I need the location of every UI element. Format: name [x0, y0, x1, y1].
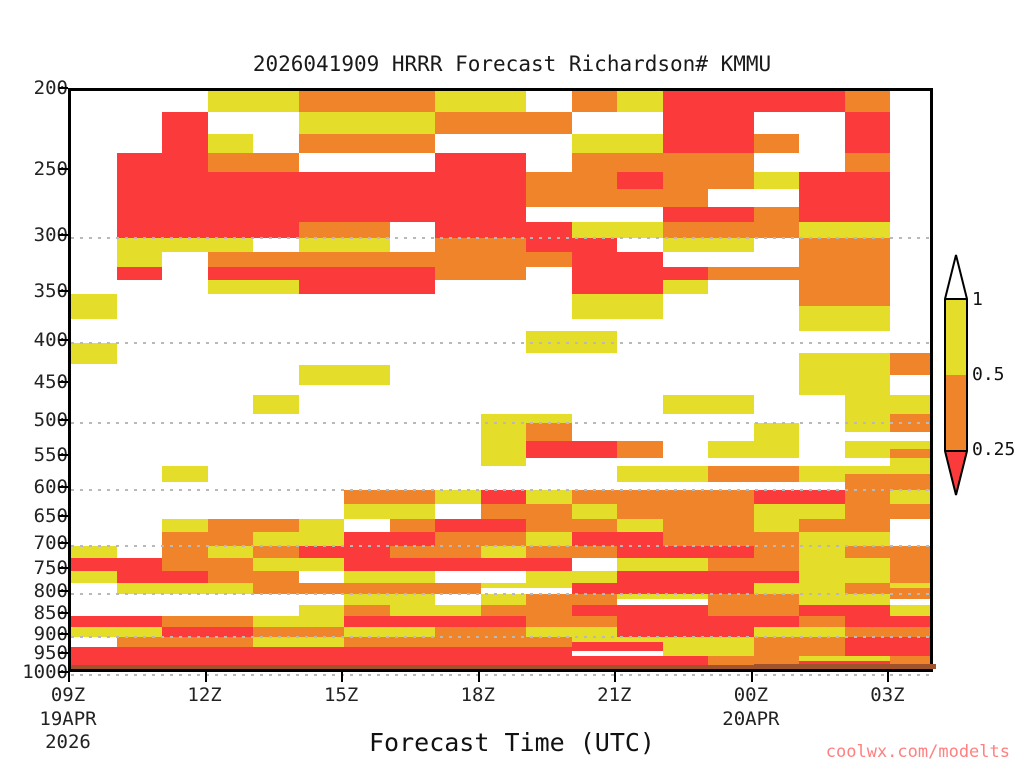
- heatmap-cell: [845, 395, 930, 414]
- x-tick-mark: [68, 672, 70, 682]
- heatmap-cell: [799, 571, 890, 583]
- heatmap-cell: [299, 519, 345, 533]
- heatmap-cell: [71, 343, 117, 365]
- heatmap-cell: [845, 637, 930, 647]
- heatmap-cell: [71, 616, 162, 627]
- x-tick-mark: [751, 672, 753, 682]
- heatmap-cell: [663, 280, 709, 294]
- heatmap-cell: [481, 605, 572, 616]
- x-tick-label: 12Z: [187, 684, 221, 706]
- heatmap-cell: [481, 490, 527, 505]
- heatmap-cell: [799, 222, 890, 238]
- heatmap-cell: [299, 238, 390, 252]
- colorbar: 10.50.25: [944, 300, 968, 450]
- heatmap-cell: [344, 616, 526, 627]
- heatmap-cell: [890, 605, 930, 616]
- heatmap-cell: [799, 605, 890, 616]
- heatmap-cell: [572, 91, 618, 112]
- heatmap-cell: [799, 375, 890, 395]
- x-tick-label: 15Z: [324, 684, 358, 706]
- heatmap-cell: [799, 267, 890, 306]
- heatmap-cell: [617, 441, 663, 458]
- heatmap-cell: [799, 172, 890, 189]
- colorbar-arrow-bottom: [944, 450, 968, 496]
- heatmap-cell: [572, 504, 618, 518]
- y-tick-mark: [59, 168, 68, 170]
- heatmap-cell: [208, 546, 254, 559]
- heatmap-cell: [799, 546, 845, 559]
- heatmap-cell: [617, 172, 663, 189]
- heatmap-cell: [663, 172, 754, 189]
- heatmap-cell: [572, 642, 663, 652]
- heatmap-cell: [890, 588, 930, 599]
- heatmap-cell: [162, 627, 253, 637]
- colorbar-label: 1: [972, 289, 983, 310]
- heatmap-cell: [890, 558, 930, 570]
- heatmap-cell: [617, 91, 663, 112]
- heatmap-cell: [390, 546, 481, 559]
- heatmap-cell: [708, 594, 799, 605]
- heatmap-cell: [572, 532, 663, 545]
- heatmap-cell: [526, 571, 617, 583]
- y-tick-mark: [59, 87, 68, 89]
- heatmap-cell: [299, 605, 345, 616]
- heatmap-cell: [799, 656, 890, 661]
- heatmap-cell: [526, 546, 617, 559]
- heatmap-cell: [754, 627, 845, 637]
- heatmap-cell: [799, 189, 890, 222]
- x-tick-mark: [887, 672, 889, 682]
- heatmap-cell: [663, 395, 754, 414]
- heatmap-cell: [344, 504, 435, 518]
- heatmap-cell: [526, 172, 617, 189]
- heatmap-cell: [208, 571, 299, 583]
- heatmap-cell: [299, 207, 436, 222]
- heatmap-cell: [799, 594, 890, 605]
- heatmap-cell: [799, 238, 890, 267]
- heatmap-cell: [617, 627, 754, 637]
- x-tick-label: 21Z: [597, 684, 631, 706]
- heatmap-cell: [253, 395, 299, 414]
- heatmap-cell: [617, 558, 708, 570]
- heatmap-cell: [71, 571, 117, 583]
- heatmap-cell: [162, 616, 253, 627]
- heatmap-cell: [754, 583, 845, 595]
- y-tick-mark: [59, 652, 68, 654]
- heatmap-cell: [435, 532, 526, 545]
- heatmap-cell: [526, 627, 617, 637]
- heatmap-cell: [344, 637, 572, 647]
- heatmap-cell: [435, 519, 526, 533]
- heatmap-cell: [799, 558, 890, 570]
- heatmap-cell: [526, 331, 617, 354]
- y-tick-mark: [59, 671, 68, 673]
- heatmap-cell: [754, 519, 800, 533]
- heatmap-cell: [526, 532, 572, 545]
- heatmap-cell: [845, 627, 930, 637]
- heatmap-cell: [435, 207, 526, 222]
- heatmap-cell: [799, 353, 890, 374]
- heatmap-cell: [845, 153, 891, 172]
- heatmap-cell: [481, 449, 527, 466]
- heatmap-cell: [481, 583, 572, 589]
- heatmap-cell: [617, 519, 663, 533]
- heatmap-cell: [754, 546, 800, 559]
- heatmap-cell: [344, 594, 435, 605]
- colorbar-segment: [944, 300, 968, 375]
- heatmap-cell: [708, 571, 799, 583]
- heatmap-cell: [799, 616, 845, 627]
- heatmap-cell: [754, 647, 845, 657]
- heatmap-cell: [162, 112, 208, 152]
- heatmap-cell: [526, 594, 617, 605]
- heatmap-cell: [845, 647, 930, 657]
- heatmap-cell: [845, 474, 930, 489]
- heatmap-cell: [435, 627, 526, 637]
- heatmap-cell: [845, 546, 930, 559]
- heatmap-cell: [754, 637, 845, 647]
- heatmap-cell: [390, 605, 481, 616]
- heatmap-cell: [481, 647, 572, 657]
- heatmap-cell: [162, 532, 253, 545]
- terrain-step: [71, 665, 754, 669]
- heatmap-cell: [663, 207, 754, 222]
- heatmap-cell: [71, 546, 117, 559]
- heatmap-cell: [663, 238, 754, 252]
- heatmap-cell: [526, 616, 617, 627]
- heatmap-cell: [663, 222, 754, 238]
- heatmap-cell: [299, 134, 436, 153]
- heatmap-cell: [890, 414, 930, 432]
- heatmap-cell: [890, 571, 930, 583]
- heatmap-cell: [572, 490, 754, 505]
- heatmap-cell: [253, 558, 344, 570]
- y-axis: 2002503003504004505005506006507007508008…: [0, 88, 68, 672]
- heatmap-cell: [117, 637, 254, 647]
- heatmap-cell: [617, 616, 799, 627]
- credit-text: coolwx.com/modelts: [826, 742, 1010, 762]
- heatmap-cell: [708, 267, 799, 280]
- y-tick-mark: [59, 339, 68, 341]
- x-tick-label: 00Z: [734, 684, 768, 706]
- heatmap-cell: [71, 647, 481, 657]
- terrain-step: [754, 664, 936, 669]
- heatmap-cell: [617, 594, 708, 599]
- colorbar-segment: [944, 375, 968, 450]
- heatmap-cell: [572, 252, 663, 267]
- heatmap-cell: [299, 172, 436, 207]
- heatmap-cell: [162, 519, 208, 533]
- colorbar-arrow-top: [944, 254, 968, 300]
- heatmap-cell: [754, 134, 800, 153]
- heatmap-cell: [208, 280, 299, 294]
- x-tick-label: 03Z: [870, 684, 904, 706]
- heatmap-cell: [663, 112, 754, 152]
- heatmap-cell: [754, 504, 845, 518]
- heatmap-cell: [526, 423, 572, 441]
- heatmap-cell: [117, 238, 254, 252]
- heatmap-cell: [617, 466, 708, 482]
- heatmap-cell: [526, 441, 617, 458]
- heatmap-cell: [663, 532, 800, 545]
- heatmap-cell: [435, 238, 526, 252]
- heatmap-cell: [708, 558, 799, 570]
- heatmap-cell: [526, 490, 572, 505]
- heatmap-cell: [572, 222, 663, 238]
- heatmap-cell: [708, 441, 799, 458]
- y-tick-mark: [59, 633, 68, 635]
- heatmap-cell: [299, 546, 390, 559]
- heatmap-cell: [344, 605, 390, 616]
- heatmap-cell: [435, 252, 572, 267]
- heatmap-cells: [71, 91, 930, 669]
- x-tick-label: 18Z: [461, 684, 495, 706]
- heatmap-cell: [617, 504, 754, 518]
- heatmap-cell: [754, 490, 845, 505]
- y-tick-mark: [59, 381, 68, 383]
- chart-title: 2026041909 HRRR Forecast Richardson# KMM…: [0, 52, 1024, 76]
- heatmap-cell: [754, 423, 800, 441]
- heatmap-cell: [845, 414, 891, 432]
- y-tick-mark: [59, 590, 68, 592]
- heatmap-cell: [71, 294, 117, 319]
- y-tick-mark: [59, 419, 68, 421]
- heatmap-cell: [344, 532, 435, 545]
- y-tick-mark: [59, 612, 68, 614]
- terrain-band: [71, 665, 930, 669]
- plot-area: [68, 88, 933, 672]
- heatmap-cell: [572, 605, 709, 616]
- heatmap-cell: [71, 627, 162, 637]
- heatmap-cell: [208, 134, 254, 153]
- heatmap-cell: [617, 583, 754, 595]
- x-tick-mark: [205, 672, 207, 682]
- heatmap-cell: [845, 490, 891, 505]
- heatmap-cell: [435, 490, 481, 505]
- heatmap-cell: [799, 306, 890, 330]
- heatmap-cell: [663, 153, 754, 172]
- heatmap-cell: [481, 546, 527, 559]
- heatmap-cell: [572, 134, 663, 153]
- heatmap-cell: [71, 558, 162, 570]
- heatmap-cell: [663, 647, 754, 657]
- heatmap-cell: [299, 267, 436, 294]
- heatmap-cell: [799, 519, 890, 533]
- chart-canvas: 2026041909 HRRR Forecast Richardson# KMM…: [0, 0, 1024, 768]
- heatmap-cell: [435, 558, 572, 570]
- heatmap-cell: [572, 583, 618, 595]
- heatmap-cell: [617, 571, 708, 583]
- y-tick-mark: [59, 567, 68, 569]
- heatmap-cell: [117, 252, 163, 267]
- heatmap-cell: [344, 490, 435, 505]
- heatmap-cell: [117, 583, 254, 595]
- heatmap-cell: [754, 207, 800, 222]
- heatmap-cell: [299, 365, 390, 386]
- heatmap-cell: [663, 519, 754, 533]
- heatmap-cell: [253, 627, 344, 637]
- heatmap-cell: [253, 616, 344, 627]
- y-tick-mark: [59, 542, 68, 544]
- heatmap-cell: [162, 558, 253, 570]
- heatmap-cell: [708, 466, 799, 482]
- heatmap-cell: [208, 172, 299, 189]
- heatmap-cell: [208, 252, 299, 267]
- y-tick-mark: [59, 515, 68, 517]
- heatmap-cell: [572, 153, 663, 172]
- heatmap-cell: [299, 91, 436, 112]
- heatmap-cell: [390, 519, 436, 533]
- heatmap-cell: [663, 91, 845, 112]
- x-tick-mark: [341, 672, 343, 682]
- heatmap-cell: [253, 546, 299, 559]
- colorbar-label: 0.5: [972, 364, 1005, 385]
- heatmap-cell: [117, 571, 208, 583]
- heatmap-cell: [253, 532, 344, 545]
- heatmap-cell: [890, 458, 930, 474]
- heatmap-cell: [890, 490, 930, 505]
- heatmap-cell: [208, 153, 299, 172]
- heatmap-cell: [845, 112, 891, 152]
- y-tick-mark: [59, 290, 68, 292]
- x-tick-mark: [614, 672, 616, 682]
- heatmap-cell: [208, 189, 299, 207]
- heatmap-cell: [162, 466, 208, 482]
- heatmap-cell: [208, 519, 299, 533]
- heatmap-cell: [435, 91, 526, 112]
- heatmap-cell: [253, 583, 481, 595]
- heatmap-cell: [845, 91, 891, 112]
- heatmap-cell: [344, 627, 435, 637]
- heatmap-cell: [344, 571, 435, 583]
- heatmap-cell: [799, 532, 890, 545]
- y-tick-mark: [59, 486, 68, 488]
- heatmap-cell: [481, 504, 572, 518]
- heatmap-cell: [208, 267, 299, 280]
- heatmap-cell: [572, 294, 663, 319]
- colorbar-label: 0.25: [972, 439, 1015, 460]
- heatmap-cell: [845, 616, 930, 627]
- heatmap-cell: [526, 189, 708, 207]
- heatmap-cell: [754, 172, 800, 189]
- x-tick-label: 09Z: [51, 684, 85, 706]
- heatmap-cell: [526, 519, 617, 533]
- heatmap-cell: [117, 267, 163, 280]
- heatmap-cell: [299, 112, 436, 134]
- heatmap-cell: [617, 546, 754, 559]
- heatmap-cell: [299, 252, 436, 267]
- heatmap-cell: [481, 594, 527, 605]
- heatmap-cell: [890, 353, 930, 374]
- heatmap-cell: [435, 267, 526, 280]
- heatmap-cell: [253, 637, 344, 647]
- y-tick-mark: [59, 454, 68, 456]
- heatmap-cell: [845, 583, 891, 595]
- heatmap-cell: [117, 207, 299, 239]
- y-tick-mark: [59, 234, 68, 236]
- x-tick-mark: [478, 672, 480, 682]
- heatmap-cell: [754, 222, 800, 238]
- heatmap-cell: [208, 91, 299, 112]
- heatmap-cell: [481, 432, 527, 449]
- heatmap-cell: [845, 504, 930, 518]
- heatmap-cell: [663, 637, 754, 647]
- heatmap-cell: [344, 558, 435, 570]
- heatmap-cell: [708, 605, 799, 616]
- heatmap-cell: [435, 112, 572, 134]
- heatmap-cell: [299, 222, 390, 238]
- heatmap-cell: [162, 546, 208, 559]
